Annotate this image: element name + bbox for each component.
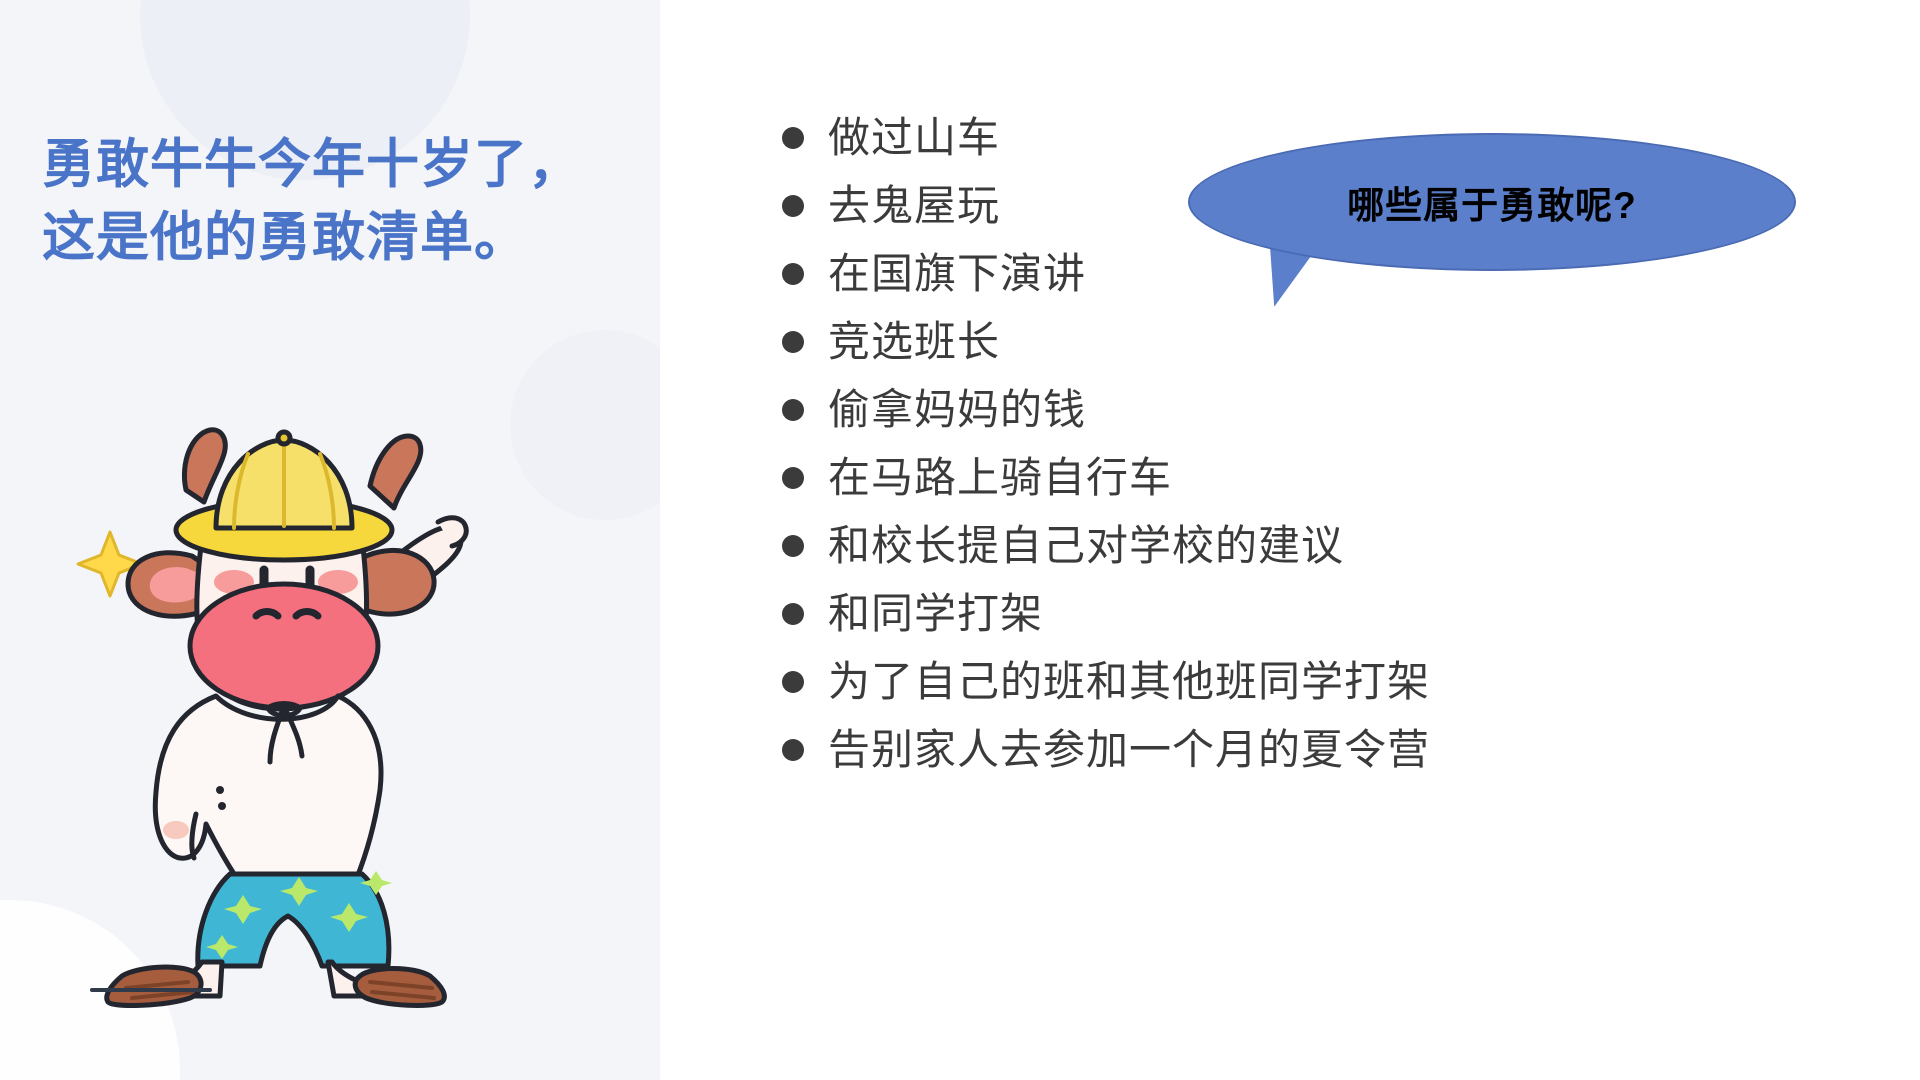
list-item[interactable]: 和同学打架 — [782, 580, 1782, 648]
cow-horn-left — [184, 430, 225, 502]
page-title: 勇敢牛牛今年十岁了， 这是他的勇敢清单。 — [42, 128, 642, 274]
cow-horn-right — [370, 436, 421, 508]
bullet-icon — [782, 399, 804, 421]
bullet-icon — [782, 127, 804, 149]
bullet-icon — [782, 535, 804, 557]
list-item[interactable]: 告别家人去参加一个月的夏令营 — [782, 716, 1782, 784]
bullet-icon — [782, 331, 804, 353]
page-title-line-1: 勇敢牛牛今年十岁了， — [42, 128, 642, 201]
speech-bubble: 哪些属于勇敢呢? — [1188, 133, 1796, 305]
brave-cow-illustration — [70, 410, 500, 1010]
speech-bubble-label: 哪些属于勇敢呢? — [1188, 133, 1796, 271]
list-item-label: 告别家人去参加一个月的夏令营 — [828, 729, 1430, 771]
list-item-label: 竞选班长 — [828, 321, 1000, 363]
cow-muzzle — [190, 584, 378, 708]
decorative-circle-middle — [510, 330, 660, 520]
bullet-icon — [782, 195, 804, 217]
cow-ear-left-inner — [150, 567, 201, 602]
list-item-label: 偷拿妈妈的钱 — [828, 389, 1086, 431]
list-item-label: 在马路上骑自行车 — [828, 457, 1172, 499]
list-item-label: 做过山车 — [828, 117, 1000, 159]
bullet-icon — [782, 671, 804, 693]
list-item[interactable]: 偷拿妈妈的钱 — [782, 376, 1782, 444]
slide-canvas: 勇敢牛牛今年十岁了， 这是他的勇敢清单。 — [0, 0, 1920, 1080]
cow-hand-blush-left — [163, 821, 189, 839]
ground-line — [90, 988, 212, 992]
bullet-icon — [782, 467, 804, 489]
bullet-icon — [782, 603, 804, 625]
list-item-label: 去鬼屋玩 — [828, 185, 1000, 227]
cow-shirt-dot-a — [216, 786, 224, 794]
cow-shirt — [155, 696, 381, 880]
list-item[interactable]: 和校长提自己对学校的建议 — [782, 512, 1782, 580]
page-title-line-2: 这是他的勇敢清单。 — [42, 201, 642, 274]
list-item[interactable]: 为了自己的班和其他班同学打架 — [782, 648, 1782, 716]
list-item-label: 为了自己的班和其他班同学打架 — [828, 661, 1430, 703]
cow-hat-button — [278, 432, 290, 444]
list-item[interactable]: 在马路上骑自行车 — [782, 444, 1782, 512]
left-panel: 勇敢牛牛今年十岁了， 这是他的勇敢清单。 — [0, 0, 660, 1080]
list-item-label: 和校长提自己对学校的建议 — [828, 525, 1344, 567]
list-item-label: 和同学打架 — [828, 593, 1043, 635]
list-item[interactable]: 竞选班长 — [782, 308, 1782, 376]
list-item-label: 在国旗下演讲 — [828, 253, 1086, 295]
bullet-icon — [782, 739, 804, 761]
cow-shirt-dot-b — [218, 802, 226, 810]
bullet-icon — [782, 263, 804, 285]
